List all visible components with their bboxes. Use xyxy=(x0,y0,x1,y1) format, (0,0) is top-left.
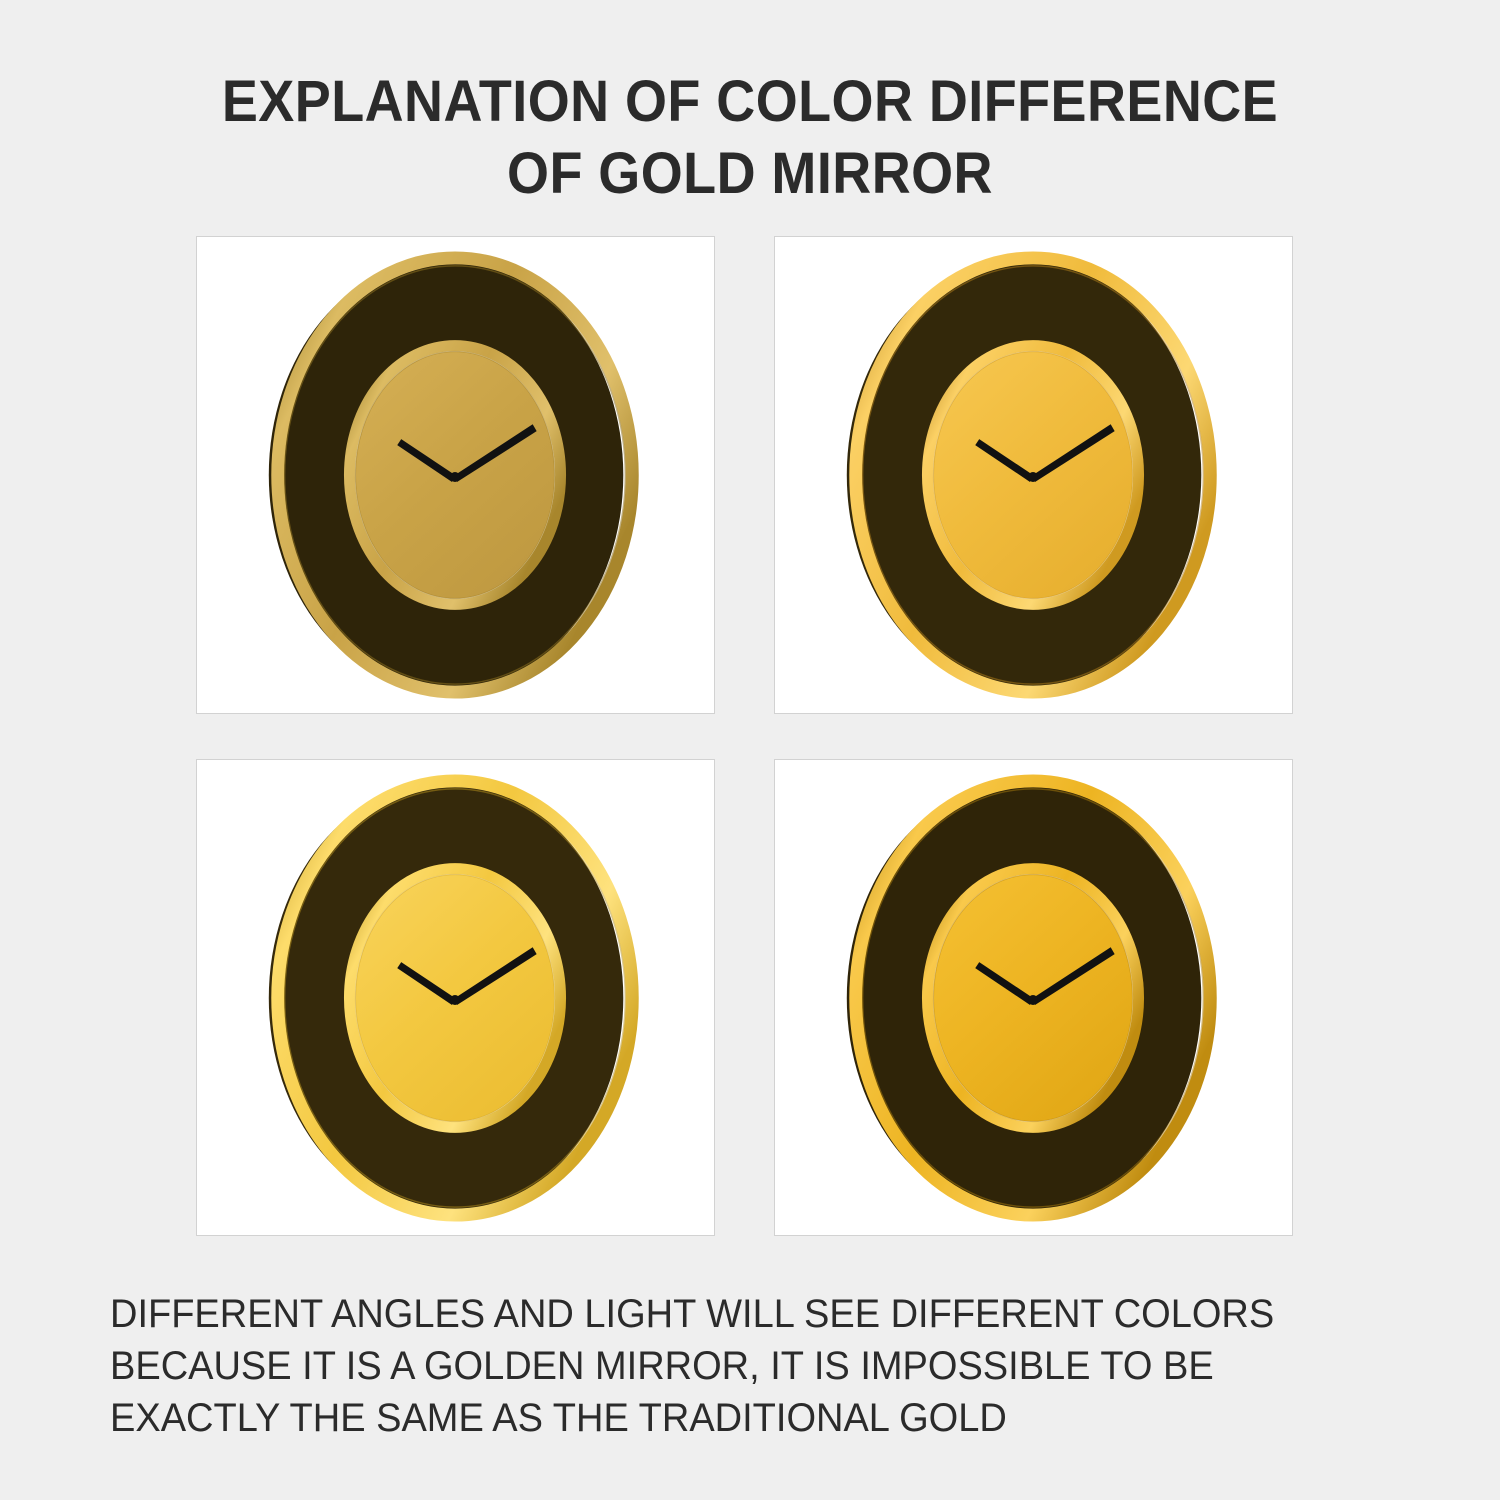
clock-top-left xyxy=(197,237,714,713)
page-title-line-1: EXPLANATION OF COLOR DIFFERENCE xyxy=(53,66,1448,138)
clock-top-right xyxy=(775,237,1292,713)
clock-image-gallery xyxy=(196,236,1293,1236)
hands-pivot xyxy=(450,472,460,482)
clock-panel-top-left[interactable] xyxy=(196,236,715,714)
page-title: EXPLANATION OF COLOR DIFFERENCE OF GOLD … xyxy=(0,66,1500,210)
product-infographic-page: EXPLANATION OF COLOR DIFFERENCE OF GOLD … xyxy=(0,0,1500,1500)
hands-pivot xyxy=(1028,995,1038,1005)
footer-caption-line-2: BECAUSE IT IS A GOLDEN MIRROR, IT IS IMP… xyxy=(110,1340,1345,1392)
clock-image-bottom-left xyxy=(197,760,714,1235)
clock-panel-bottom-left[interactable] xyxy=(196,759,715,1236)
hands-pivot xyxy=(1028,472,1038,482)
clock-bottom-right xyxy=(775,760,1292,1235)
clock-image-top-left xyxy=(197,237,714,713)
footer-caption-line-1: DIFFERENT ANGLES AND LIGHT WILL SEE DIFF… xyxy=(110,1288,1345,1340)
clock-image-top-right xyxy=(775,237,1292,713)
clock-image-bottom-right xyxy=(775,760,1292,1235)
page-title-line-2: OF GOLD MIRROR xyxy=(53,138,1448,210)
hands-pivot xyxy=(450,995,460,1005)
clock-panel-top-right[interactable] xyxy=(774,236,1293,714)
clock-bottom-left xyxy=(197,760,714,1235)
clock-panel-bottom-right[interactable] xyxy=(774,759,1293,1236)
footer-caption: DIFFERENT ANGLES AND LIGHT WILL SEE DIFF… xyxy=(110,1288,1410,1444)
footer-caption-line-3: EXACTLY THE SAME AS THE TRADITIONAL GOLD xyxy=(110,1392,1345,1444)
